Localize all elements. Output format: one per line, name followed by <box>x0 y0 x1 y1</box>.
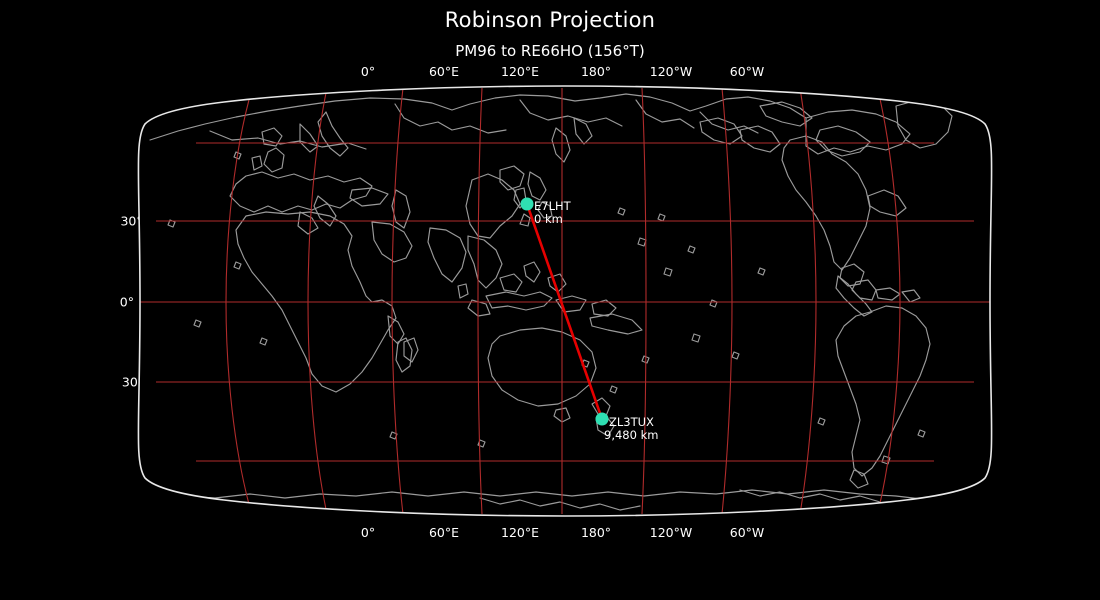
world-map <box>0 0 1100 600</box>
station-marker-zl3tux[interactable] <box>596 413 609 426</box>
station-distance-e7lht: 0 km <box>534 213 571 226</box>
station-marker-e7lht[interactable] <box>521 198 534 211</box>
map-figure: Robinson Projection PM96 to RE66HO (156°… <box>0 0 1100 600</box>
station-label-e7lht: E7LHT 0 km <box>534 200 571 226</box>
station-label-zl3tux: ZL3TUX 9,480 km <box>609 416 658 442</box>
station-distance-zl3tux: 9,480 km <box>604 429 658 442</box>
map-canvas <box>130 80 1000 525</box>
